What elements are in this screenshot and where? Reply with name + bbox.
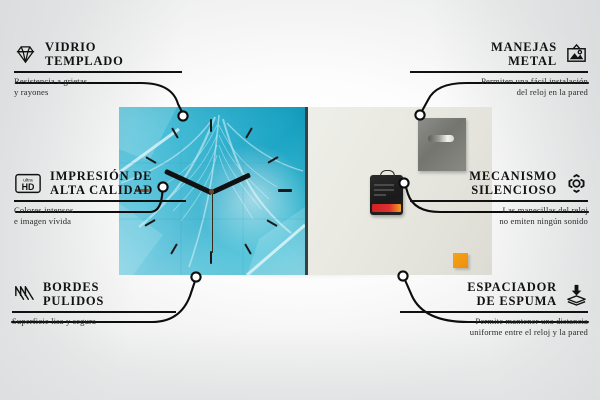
picture-frame-icon — [565, 43, 588, 66]
foam-spacer-icon — [565, 283, 588, 306]
diamond-icon — [14, 43, 37, 66]
callout-title-line1: IMPRESIÓN DE — [50, 170, 153, 184]
hanger-slot — [428, 135, 454, 142]
callout-rule — [14, 200, 186, 202]
foam-spacer-pad — [453, 253, 468, 268]
mechanism-label-strip — [372, 204, 401, 212]
callout-desc-line2: no emiten ningún sonido — [410, 216, 588, 227]
mechanism-detail — [374, 189, 394, 191]
callout-title-line1: BORDES — [43, 281, 104, 295]
callout-rule — [12, 311, 176, 313]
callout-desc-line2: uniforme entre el reloj y la pared — [400, 327, 588, 338]
callout-title-line2: ALTA CALIDAD — [50, 184, 153, 198]
mechanism-detail — [374, 184, 394, 186]
svg-text:HD: HD — [22, 182, 35, 192]
callout-desc-line2: y rayones — [14, 87, 189, 98]
callout-title-line1: ESPACIADOR — [467, 281, 557, 295]
gear-icon — [565, 172, 588, 195]
callout-title-line2: SILENCIOSO — [469, 184, 557, 198]
callout-manejas-metal: MANEJAS METAL Permiten una fácil instala… — [410, 41, 588, 98]
callout-desc-line1: Permite mantener una distancia — [400, 316, 588, 327]
callout-title-line1: VIDRIO — [45, 41, 124, 55]
mechanism-hook — [380, 170, 395, 178]
callout-vidrio-templado: VIDRIO TEMPLADO Resistencia a grietas y … — [14, 41, 189, 98]
infographic-canvas: VIDRIO TEMPLADO Resistencia a grietas y … — [0, 0, 600, 400]
callout-desc-line2: e imagen vívida — [14, 216, 194, 227]
callout-espaciador-espuma: ESPACIADOR DE ESPUMA Permite mantener un… — [400, 281, 588, 338]
callout-desc-line1: Las manecillas del reloj — [410, 205, 588, 216]
callout-title-line2: TEMPLADO — [45, 55, 124, 69]
callout-bordes-pulidos: BORDES PULIDOS Superficie lisa y segura — [12, 281, 187, 327]
callout-desc-line1: Superficie lisa y segura — [12, 316, 187, 327]
callout-desc-line2: del reloj en la pared — [410, 87, 588, 98]
callout-impresion-alta-calidad: ultra HD IMPRESIÓN DE ALTA CALIDAD Color… — [14, 170, 194, 227]
clock-center-cap — [209, 189, 214, 194]
clock-second-hand — [212, 191, 213, 253]
callout-desc-line1: Colores intensos — [14, 205, 194, 216]
callout-title-line1: MECANISMO — [469, 170, 557, 184]
clock-mechanism — [370, 175, 403, 215]
callout-desc-line1: Resistencia a grietas — [14, 76, 189, 87]
callout-rule — [14, 71, 182, 73]
metal-hanger-plate — [418, 118, 466, 171]
polished-edges-icon — [12, 283, 35, 306]
callout-title-line2: METAL — [491, 55, 557, 69]
callout-rule — [410, 71, 588, 73]
callout-title-line2: DE ESPUMA — [467, 295, 557, 309]
callout-mecanismo-silencioso: MECANISMO SILENCIOSO Las manecillas del … — [410, 170, 588, 227]
ultra-hd-icon: ultra HD — [14, 172, 42, 195]
callout-title-line2: PULIDOS — [43, 295, 104, 309]
mechanism-detail — [374, 194, 386, 196]
callout-rule — [410, 200, 588, 202]
callout-desc-line1: Permiten una fácil instalación — [410, 76, 588, 87]
callout-rule — [400, 311, 588, 313]
clock-tick — [278, 189, 292, 192]
callout-title-line1: MANEJAS — [491, 41, 557, 55]
